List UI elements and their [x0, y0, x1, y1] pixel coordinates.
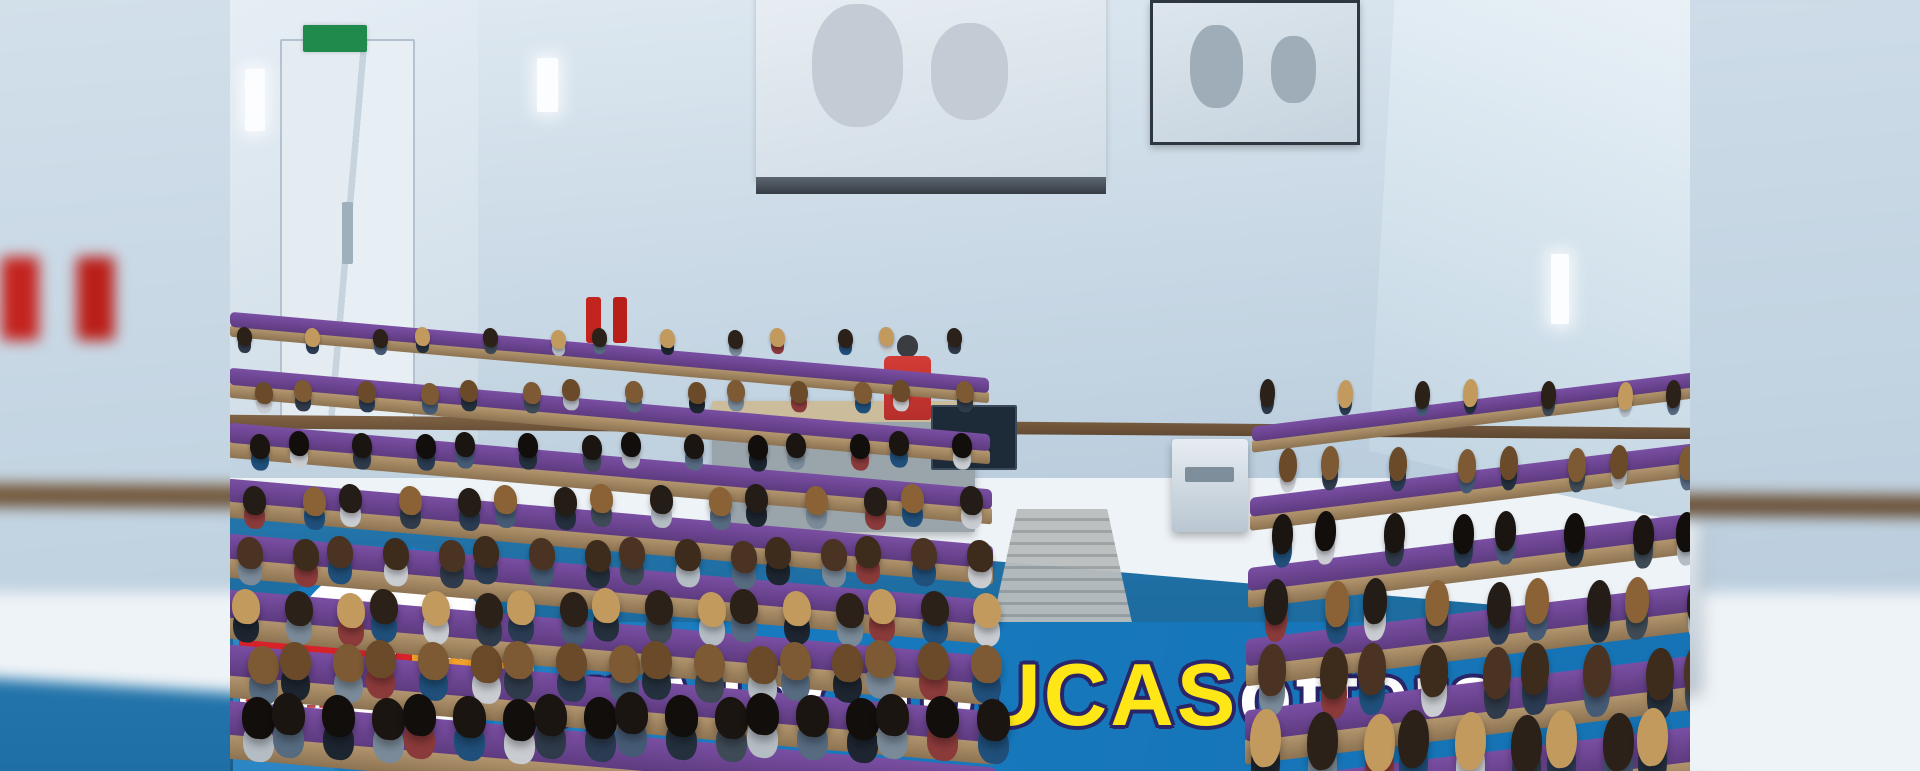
seated-person — [303, 486, 326, 517]
promo-banner-image: Replying to UCAS offers 英文虎報 The Standar… — [0, 0, 1920, 771]
seated-person — [956, 380, 974, 404]
seated-person — [494, 484, 517, 515]
seated-person — [947, 328, 962, 348]
seated-person — [455, 431, 475, 458]
seated-person — [1320, 645, 1348, 701]
seated-person — [399, 485, 422, 516]
seated-person — [921, 590, 949, 628]
seated-person — [237, 326, 252, 346]
seated-person — [1666, 379, 1681, 409]
headline-part-accent: UCAS — [977, 651, 1238, 739]
seated-person — [1483, 645, 1511, 701]
seated-person — [1458, 447, 1476, 484]
seated-person — [1321, 445, 1339, 482]
seated-person — [327, 535, 353, 569]
projection-screen-arm — [756, 177, 1106, 194]
seated-person — [1279, 447, 1297, 484]
seated-person — [439, 539, 465, 573]
seated-person — [358, 380, 376, 404]
seated-person — [1260, 378, 1275, 408]
seated-person — [529, 537, 555, 571]
seated-person — [293, 538, 319, 572]
seated-person — [458, 487, 481, 518]
seated-person — [967, 539, 993, 573]
seated-person — [1389, 446, 1407, 483]
projection-screen-side — [1150, 0, 1360, 145]
seated-person — [650, 484, 673, 515]
seated-person — [660, 328, 675, 348]
seated-person — [562, 378, 580, 402]
seated-person — [1384, 511, 1405, 554]
seated-person — [838, 328, 853, 348]
seated-person — [483, 328, 498, 348]
seated-person — [415, 327, 430, 347]
seated-person — [765, 536, 791, 570]
seated-person — [551, 329, 566, 349]
seated-person — [1307, 710, 1338, 771]
seated-person — [1358, 641, 1386, 697]
seated-person — [748, 434, 768, 461]
seated-person — [879, 326, 894, 346]
seated-person — [728, 329, 743, 349]
seated-person — [383, 537, 409, 571]
seated-person — [901, 483, 924, 514]
seated-person — [1541, 380, 1556, 410]
seated-person — [554, 486, 577, 517]
seated-person — [421, 382, 439, 406]
seated-person — [727, 379, 745, 403]
seated-person — [339, 483, 362, 514]
seated-person — [1315, 510, 1336, 553]
seated-person — [821, 538, 847, 572]
seated-person — [585, 539, 611, 573]
seated-person — [582, 434, 602, 461]
seating-bank-left — [230, 308, 989, 771]
seated-person — [625, 380, 643, 404]
seated-person — [1455, 710, 1486, 771]
seated-person — [1264, 578, 1288, 627]
seated-person — [1618, 381, 1633, 411]
lecture-hall-scene — [230, 0, 1690, 771]
seated-person — [1258, 643, 1286, 699]
seating-bank-right — [1252, 355, 1690, 771]
seated-person — [770, 327, 785, 347]
seated-person — [688, 381, 706, 405]
seated-person — [237, 536, 263, 570]
seated-person — [460, 379, 478, 403]
seated-person — [305, 328, 320, 348]
seated-person — [373, 329, 388, 349]
seated-person — [592, 327, 607, 347]
seated-person — [1272, 513, 1293, 556]
main-photo — [230, 0, 1690, 771]
exit-sign — [303, 25, 367, 53]
podium — [1172, 439, 1248, 532]
projection-screen-main — [756, 0, 1106, 180]
seated-person — [1338, 379, 1353, 409]
seated-person — [854, 381, 872, 405]
seated-person — [1511, 713, 1542, 771]
seated-person — [523, 381, 541, 405]
seated-person — [621, 431, 641, 458]
